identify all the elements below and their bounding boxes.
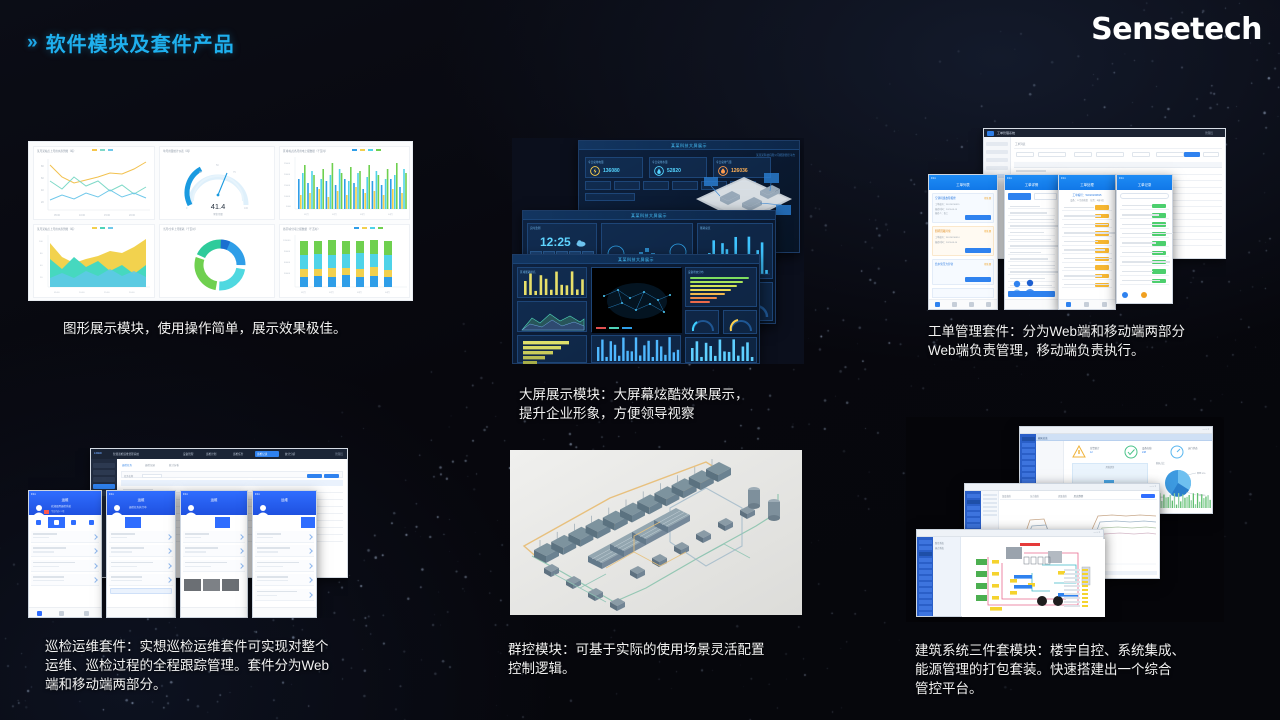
list-item[interactable] (31, 560, 99, 572)
search-button[interactable] (1184, 152, 1200, 157)
building-window-schematic: — □ × 制冷系统 热力系统 (916, 529, 1104, 617)
svg-text:02月: 02月 (329, 290, 334, 294)
table-row[interactable] (1120, 230, 1169, 238)
table-row[interactable] (1120, 258, 1169, 266)
svg-text:50: 50 (216, 164, 219, 167)
table-row[interactable] (1062, 204, 1112, 211)
donut-chart (160, 225, 276, 299)
droplet-icon (654, 166, 664, 176)
svg-text:100: 100 (39, 241, 43, 243)
user-avatar-icon (185, 504, 201, 515)
svg-text:照明 32%: 照明 32% (1197, 471, 1206, 475)
table-row[interactable] (1008, 217, 1055, 222)
user-avatar-icon (257, 504, 273, 515)
svg-text:03月: 03月 (360, 212, 365, 216)
workorder-suite-screenshot[interactable]: 工单管理系统 管理员 工单列表 9:41工单列表 (928, 128, 1226, 310)
list-item[interactable] (31, 545, 99, 557)
bottom-nav[interactable] (1059, 299, 1115, 309)
table-row[interactable] (1062, 247, 1112, 254)
table-row[interactable] (1008, 243, 1055, 248)
table-row[interactable] (1062, 255, 1112, 262)
chevrons-right-icon: » (27, 33, 37, 52)
list-item: 给水泵压力异常 待处理 (932, 259, 994, 285)
funnel-chart (521, 340, 591, 364)
chevron-right-icon (92, 549, 98, 555)
svg-text:20:00: 20:00 (129, 214, 136, 217)
table-row[interactable] (1008, 224, 1055, 229)
table-row[interactable] (1120, 268, 1169, 276)
table-row[interactable] (1008, 211, 1055, 216)
group-control-screenshot[interactable] (510, 450, 802, 615)
svg-text:40: 40 (41, 189, 44, 192)
table-row[interactable] (1008, 257, 1055, 262)
bolt-icon (590, 166, 600, 176)
svg-text:01月: 01月 (301, 290, 306, 294)
chevron-right-icon (92, 577, 98, 583)
submit-button[interactable] (110, 588, 172, 594)
tab-todo[interactable] (48, 517, 65, 528)
user-avatar-icon (33, 504, 49, 515)
svg-text:04月: 04月 (388, 212, 393, 216)
table-row[interactable] (1008, 263, 1055, 268)
page-title: » 软件模块及套件产品 (27, 28, 235, 57)
world-map (592, 268, 682, 333)
inspection-phone-1: 9:41 运维 欢迎使用巡检系统 今日待办 3 项 (28, 490, 102, 618)
search-input[interactable] (1120, 193, 1169, 199)
inspection-phone-4: 9:41 运维 (252, 490, 317, 618)
grouped-bar-chart: 250002000015000100005000 01月02月03月04月 (280, 147, 411, 221)
gauge-value: 41.4 (211, 202, 226, 211)
tab-message[interactable] (83, 517, 100, 528)
gauge-chart: 0255075100 41.4 累积用量 (160, 147, 276, 221)
graph-module-screenshot[interactable]: 某月某站点上月用水趋势图（吨） 80604020 05:0010:0015:00… (28, 141, 413, 301)
svg-text:60000: 60000 (284, 262, 291, 264)
accept-button[interactable] (965, 215, 991, 220)
bar-panel: 区域能耗排名 (517, 267, 587, 298)
chevron-right-icon (166, 534, 172, 540)
table-row[interactable] (1120, 277, 1169, 285)
area-mini (518, 302, 588, 333)
svg-text:20: 20 (41, 201, 44, 204)
table-row[interactable] (1062, 273, 1112, 280)
svg-text:25: 25 (199, 171, 202, 174)
svg-text:90000: 90000 (284, 251, 291, 253)
list-item[interactable] (255, 560, 314, 572)
table-row[interactable] (1062, 238, 1112, 245)
workorder-phone-4: 9:41工单记录 (1116, 174, 1173, 304)
table-row[interactable] (1062, 221, 1112, 228)
list-item[interactable] (183, 560, 245, 572)
tab-detail[interactable] (1008, 193, 1031, 200)
submit-button[interactable] (1008, 291, 1055, 297)
svg-text:20:00: 20:00 (129, 292, 135, 294)
svg-text:60: 60 (41, 177, 44, 180)
line-chart: 80604020 05:0010:0015:0020:00 (34, 147, 156, 221)
svg-text:75: 75 (233, 171, 236, 174)
chevron-right-icon (307, 563, 313, 569)
status-badge (1152, 269, 1166, 274)
gauge-icon (1170, 445, 1184, 459)
svg-text:10:00: 10:00 (79, 292, 85, 294)
table-row[interactable] (1008, 270, 1055, 275)
chevron-right-icon (166, 577, 172, 583)
status-badge (1095, 205, 1109, 210)
svg-text:累积用量: 累积用量 (213, 212, 223, 216)
table-row[interactable] (1120, 202, 1169, 210)
check-circle-icon (1124, 445, 1138, 459)
table-row[interactable] (1008, 250, 1055, 255)
bigscreen-module-screenshot[interactable]: 某某科技大屏展示 某某某科技有限公司能源管控平台 今日总用电量 136080 今… (512, 138, 804, 364)
funnel-panel (517, 335, 587, 363)
user-avatar-icon (111, 504, 127, 515)
inspection-phone-2: 9:41 运维 巡检任务执行中 (106, 490, 176, 618)
list-item[interactable] (255, 545, 314, 557)
bigscreen-module-caption: 大屏展示模块：大屏幕炫酷效果展示， 提升企业形象，方便领导视察 (519, 385, 809, 423)
list-item[interactable] (109, 560, 173, 572)
page-title-label: 软件模块及套件产品 (46, 28, 235, 57)
chevron-right-icon (238, 534, 244, 540)
table-row[interactable] (1120, 249, 1169, 257)
chevron-right-icon (166, 549, 172, 555)
svg-text:80: 80 (41, 165, 44, 168)
table-row[interactable] (1120, 221, 1169, 229)
svg-text:20000: 20000 (284, 174, 291, 176)
svg-text:80: 80 (40, 253, 43, 255)
svg-text:15:00: 15:00 (104, 214, 111, 217)
inspection-phone-3: 9:41 运维 (180, 490, 248, 618)
chevron-right-icon (166, 563, 172, 569)
list-item[interactable] (109, 531, 173, 543)
table-row[interactable] (1062, 230, 1112, 237)
svg-text:20: 20 (40, 277, 43, 279)
query-button[interactable] (307, 474, 322, 478)
brand-logo: Sensetech (1091, 12, 1262, 47)
scada-schematic (962, 539, 1105, 617)
svg-text:15000: 15000 (284, 185, 291, 187)
svg-text:15:00: 15:00 (104, 292, 110, 294)
bar-panel2 (591, 335, 681, 363)
table-row[interactable] (1062, 281, 1112, 288)
list-item[interactable] (255, 574, 314, 586)
svg-text:100: 100 (244, 207, 249, 210)
group-control-caption: 群控模块：可基于实际的使用场景灵活配置 控制逻辑。 (508, 640, 828, 678)
list-item[interactable] (31, 574, 99, 586)
inspection-suite-screenshot[interactable]: LOGO 智慧巡检运维管理系统 设备管理 巡检计划 巡检任务 巡检记录 统计分析… (28, 448, 348, 618)
list-item: 照明回路异常 待处理 工单编号：WO20230814 报修时间：2023-08-… (932, 226, 994, 256)
chevron-right-icon (307, 534, 313, 540)
svg-text:5000: 5000 (286, 206, 292, 208)
svg-text:05:00: 05:00 (54, 214, 61, 217)
chevron-right-icon (92, 534, 98, 540)
status-badge (1152, 204, 1166, 209)
mountain-panel (517, 301, 587, 332)
list-item[interactable] (255, 589, 314, 601)
bigscreen-display-3: 某某科技大屏展示 区域能耗排名 (512, 254, 760, 364)
area-chart: 100804020 05:0010:0015:0020:00 (34, 225, 156, 299)
bottom-nav[interactable] (929, 299, 997, 309)
ranking-panel: 设备状态分布 (685, 267, 757, 307)
cloud-icon (576, 238, 586, 248)
building-suite-screenshot[interactable]: — □ × 能耗总览 告警统计 12 设备在线 248 运行状态 用能趋势 能耗… (906, 417, 1224, 622)
graph-module-caption: 图形展示模块，使用操作简单，展示效果极佳。 (63, 319, 433, 338)
svg-text:03月: 03月 (357, 290, 362, 294)
export-button[interactable] (1141, 494, 1155, 499)
chevron-right-icon (307, 592, 313, 598)
list-item[interactable] (31, 531, 99, 543)
chevron-right-icon (238, 549, 244, 555)
svg-text:05:00: 05:00 (54, 292, 60, 294)
tab-done[interactable] (66, 517, 83, 528)
workorder-suite-caption: 工单管理套件：分为Web端和移动端两部分 Web端负责管理，移动端负责执行。 (928, 322, 1248, 360)
stat-card: 今日总用电量 136080 (585, 157, 643, 178)
tab-process[interactable] (1034, 193, 1057, 200)
building-suite-caption: 建筑系统三件套模块：楼宇自控、系统集成、 能源管理的打包套装。快速搭建出一个综合… (915, 641, 1245, 698)
table-row[interactable] (1062, 213, 1112, 220)
chevron-right-icon (238, 563, 244, 569)
status-badge (1095, 265, 1109, 270)
svg-text:30000: 30000 (284, 273, 291, 275)
reset-button[interactable] (1203, 152, 1219, 157)
slide-header: » 软件模块及套件产品 Sensetech (0, 0, 1280, 62)
list-item[interactable] (109, 545, 173, 557)
clock-value: 12:25 (540, 235, 571, 249)
table-row[interactable] (1008, 204, 1055, 209)
svg-text:04月: 04月 (385, 290, 390, 294)
tab-my-task[interactable] (30, 517, 47, 528)
stacked-bar-chart: 120000900006000030000 01月02月03月04月 (280, 225, 411, 299)
map-panel (591, 267, 681, 332)
list-item[interactable] (183, 531, 245, 543)
table-row[interactable] (1008, 237, 1055, 242)
svg-text:10000: 10000 (284, 196, 291, 198)
isometric-hvac-diagram (510, 450, 802, 615)
svg-text:01月: 01月 (304, 212, 309, 216)
bar-panel3 (685, 337, 757, 363)
svg-text:10:00: 10:00 (79, 214, 86, 217)
list-item[interactable] (109, 574, 173, 586)
chevron-right-icon (307, 549, 313, 555)
chevron-right-icon (92, 563, 98, 569)
table-row[interactable] (1120, 240, 1169, 248)
svg-text:02月: 02月 (332, 212, 337, 216)
svg-text:0: 0 (186, 207, 188, 210)
bottom-nav[interactable] (29, 607, 101, 617)
warning-icon (1072, 445, 1086, 459)
svg-text:120000: 120000 (283, 240, 291, 242)
svg-text:25000: 25000 (284, 163, 291, 165)
list-item[interactable] (255, 531, 314, 543)
list-item: 空调机组故障报修 待处理 工单编号：WO20230815 报修时间：2023-0… (932, 193, 994, 223)
table-row[interactable] (1008, 230, 1055, 235)
reset-button[interactable] (324, 474, 339, 478)
table-row[interactable] (1120, 211, 1169, 219)
inspection-suite-caption: 巡检运维套件：实想巡检运维套件可实现对整个 运维、巡检过程的全程跟踪管理。套件分… (45, 637, 405, 694)
svg-text:40: 40 (40, 265, 43, 267)
chevron-right-icon (307, 577, 313, 583)
workorder-phone-1: 9:41工单列表 空调机组故障报修 待处理 工单编号：WO20230815 报修… (928, 174, 998, 310)
table-row[interactable] (1062, 264, 1112, 271)
workorder-phone-2: 9:41工单详情 (1004, 174, 1059, 310)
list-item[interactable] (183, 545, 245, 557)
workorder-phone-3: 9:41工单处理 工单编号：WO20230815 设备：1#空调机组 位置：B座… (1058, 174, 1116, 310)
